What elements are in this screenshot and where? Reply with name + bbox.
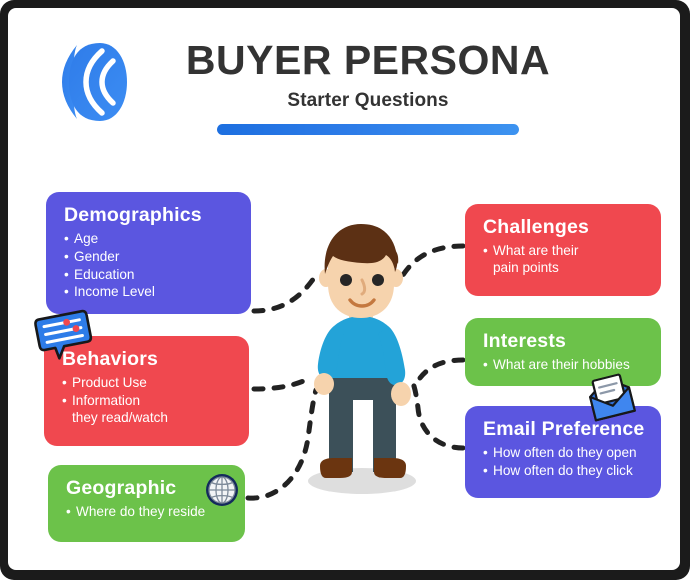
card-interests[interactable]: Interests What are their hobbies bbox=[465, 318, 661, 386]
card-challenges[interactable]: Challenges What are their pain points bbox=[465, 204, 661, 296]
concentric-arcs-logo bbox=[53, 41, 133, 123]
list-item: What are their pain points bbox=[483, 243, 645, 276]
list-item: How often do they open bbox=[483, 445, 645, 462]
page-subtitle: Starter Questions bbox=[158, 90, 578, 112]
card-list: What are their hobbies bbox=[483, 357, 645, 374]
list-item: Product Use bbox=[62, 375, 233, 392]
poster-frame: BUYER PERSONA Starter Questions bbox=[0, 0, 690, 580]
card-list: How often do they open How often do they… bbox=[483, 445, 645, 479]
header: BUYER PERSONA Starter Questions bbox=[8, 8, 680, 158]
card-list: Product Use Information they read/watch bbox=[62, 375, 233, 426]
card-title: Email Preference bbox=[483, 419, 645, 440]
list-item: Education bbox=[64, 267, 235, 284]
list-item: What are their hobbies bbox=[483, 357, 645, 374]
card-title: Interests bbox=[483, 331, 645, 352]
card-title: Challenges bbox=[483, 217, 645, 238]
card-list: What are their pain points bbox=[483, 243, 645, 276]
poster-canvas: BUYER PERSONA Starter Questions bbox=[8, 8, 680, 570]
card-email-preference[interactable]: Email Preference How often do they open … bbox=[465, 406, 661, 498]
list-item: Income Level bbox=[64, 284, 235, 301]
title-block: BUYER PERSONA Starter Questions bbox=[158, 40, 578, 135]
list-item: How often do they click bbox=[483, 463, 645, 480]
card-title: Demographics bbox=[64, 205, 235, 226]
male-person-illustration bbox=[296, 222, 426, 500]
page-title: BUYER PERSONA bbox=[158, 40, 578, 81]
globe-icon bbox=[204, 472, 240, 508]
list-item: Information they read/watch bbox=[62, 393, 233, 426]
card-list: Age Gender Education Income Level bbox=[64, 231, 235, 300]
list-item: Age bbox=[64, 231, 235, 248]
card-demographics[interactable]: Demographics Age Gender Education Income… bbox=[46, 192, 251, 314]
list-item: Gender bbox=[64, 249, 235, 266]
accent-bar bbox=[217, 124, 519, 135]
